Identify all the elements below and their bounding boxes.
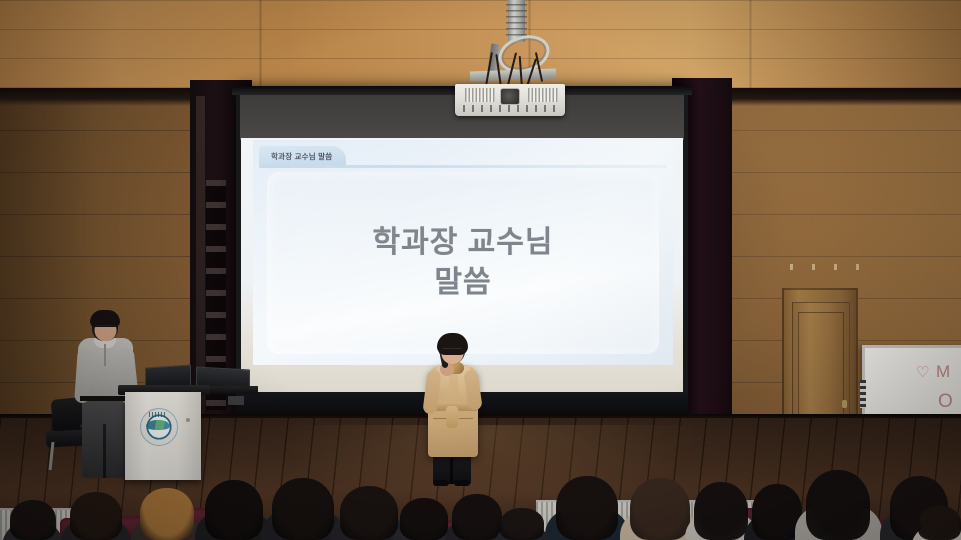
audience-member-head <box>630 478 690 540</box>
audience-member-head <box>400 498 448 540</box>
audience-member-head <box>556 476 618 540</box>
audience-member-head <box>806 470 870 540</box>
audience-member-head <box>452 494 502 540</box>
audience-member-head <box>500 508 544 540</box>
audience-member-head <box>272 478 334 540</box>
audience-layer <box>0 0 961 540</box>
audience-member-head <box>10 500 56 540</box>
auditorium-scene: ♡ M O written note 학과장 교수님 말씀 학과장 교수님 말씀 <box>0 0 961 540</box>
audience-member-head <box>70 492 122 540</box>
audience-member-head <box>340 486 398 540</box>
audience-member-head <box>694 482 748 540</box>
audience-member-head <box>140 488 194 540</box>
audience-member-head <box>205 480 263 540</box>
audience-member-head <box>918 506 961 540</box>
